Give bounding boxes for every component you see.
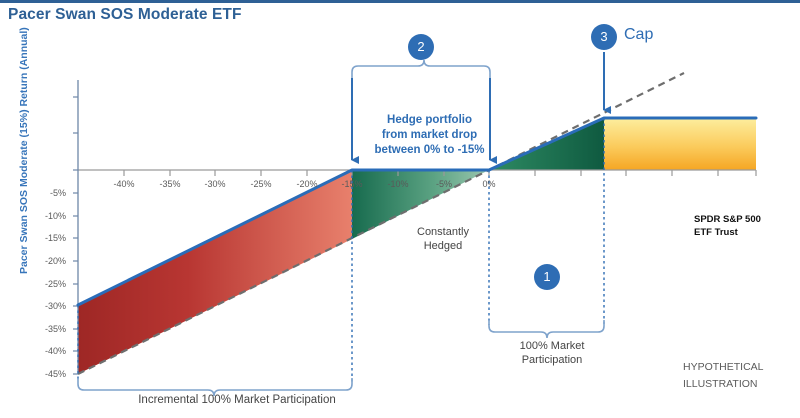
y-tick-label: -5% [36, 188, 66, 198]
callout-badge-2[interactable]: 2 [408, 34, 434, 60]
chart-page: Pacer Swan SOS Moderate ETF [0, 0, 800, 418]
y-tick-label: -20% [36, 256, 66, 266]
x-tick-label: -10% [387, 179, 408, 189]
y-axis-title: Pacer Swan SOS Moderate (15%) Return (An… [18, 34, 30, 274]
region-incremental-participation [78, 170, 352, 374]
y-tick-label: -45% [36, 369, 66, 379]
y-tick-label: -25% [36, 279, 66, 289]
callout-1-brace [489, 320, 604, 338]
y-axis-ticks [73, 97, 78, 374]
hypothetical-illustration-label: HYPOTHETICAL ILLUSTRATION [683, 359, 764, 393]
hedge-annotation: Hedge portfolio from market drop between… [367, 113, 492, 158]
market-participation-label: 100% Market Participation [497, 340, 607, 368]
x-tick-label: -25% [250, 179, 271, 189]
y-tick-label: -35% [36, 324, 66, 334]
callout-badge-3[interactable]: 3 [591, 24, 617, 50]
incremental-participation-label: Incremental 100% Market Participation [92, 393, 382, 407]
x-tick-label: -20% [296, 179, 317, 189]
y-tick-label: -15% [36, 233, 66, 243]
callout-badge-1[interactable]: 1 [534, 264, 560, 290]
x-tick-label: -5% [436, 179, 452, 189]
x-tick-label: -35% [159, 179, 180, 189]
x-tick-label: 0% [482, 179, 495, 189]
payoff-chart [0, 0, 800, 418]
y-tick-label: -10% [36, 211, 66, 221]
x-tick-label: -30% [204, 179, 225, 189]
x-tick-label: -40% [113, 179, 134, 189]
spdr-benchmark-label: SPDR S&P 500 ETF Trust [694, 214, 761, 240]
cap-label: Cap [624, 26, 653, 44]
constantly-hedged-label: Constantly Hedged [398, 226, 488, 254]
region-cap [604, 118, 756, 170]
y-tick-label: -30% [36, 301, 66, 311]
x-tick-label: -15% [341, 179, 362, 189]
y-tick-label: -40% [36, 346, 66, 356]
